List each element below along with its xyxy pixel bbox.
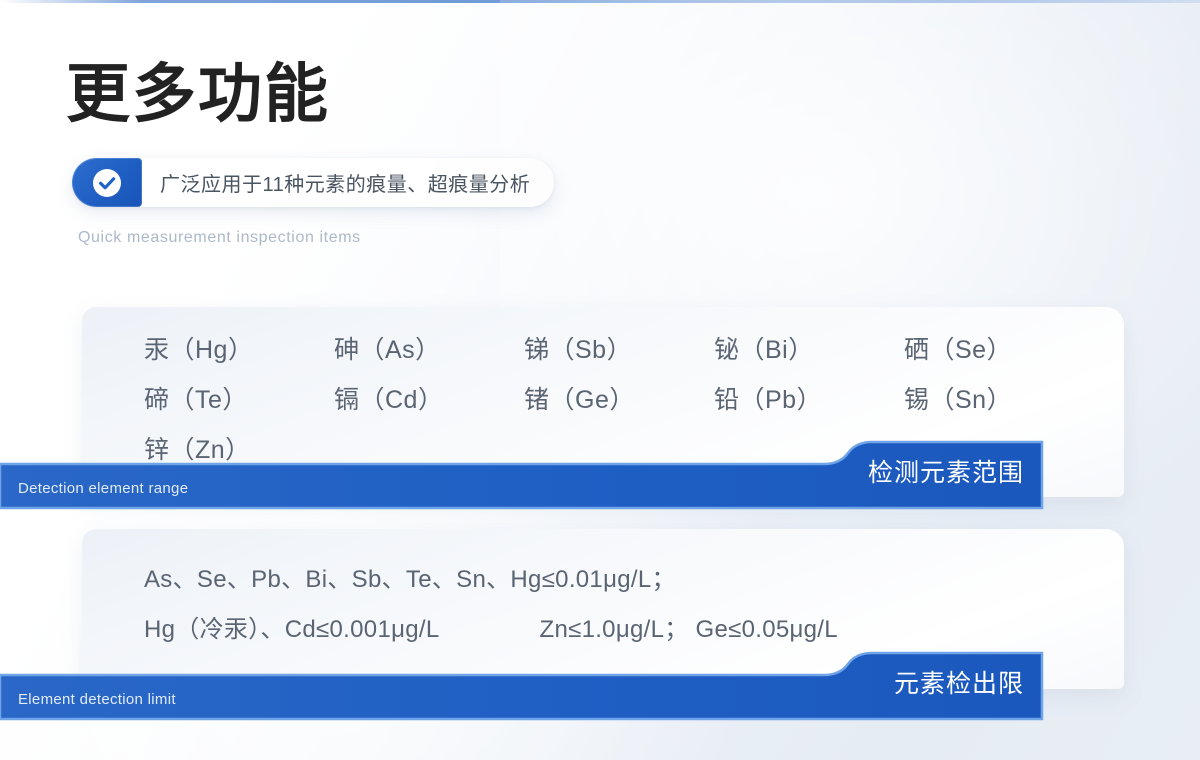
element-cell: 铋（Bi） (714, 330, 904, 366)
element-cell: 锗（Ge） (524, 380, 714, 416)
highlight-pill-label: 广泛应用于11种元素的痕量、超痕量分析 (142, 158, 554, 207)
element-detection-limit-card: As、Se、Pb、Bi、Sb、Te、Sn、Hg≤0.01μg/L； Hg（冷汞）… (82, 529, 1124, 689)
element-row: 汞（Hg） 砷（As） 锑（Sb） 铋（Bi） 硒（Se） (144, 323, 1124, 373)
element-cell: 锡（Sn） (904, 380, 1094, 416)
element-row: 锌（Zn） (144, 423, 1124, 473)
element-cell: 硒（Se） (904, 330, 1094, 366)
limit-line: Hg（冷汞）、Cd≤0.001μg/L Zn≤1.0μg/L； Ge≤0.05μ… (144, 601, 1124, 651)
banner-en-label: Element detection limit (18, 691, 176, 708)
element-cell: 砷（As） (334, 330, 524, 366)
page-root: 更多功能 广泛应用于11种元素的痕量、超痕量分析 Quick measureme… (0, 0, 1200, 760)
limit-line-segment: Hg（冷汞）、Cd≤0.001μg/L (144, 609, 439, 644)
detection-element-range-card: 汞（Hg） 砷（As） 锑（Sb） 铋（Bi） 硒（Se） 碲（Te） 镉（Cd… (82, 307, 1124, 497)
element-row: 碲（Te） 镉（Cd） 锗（Ge） 铅（Pb） 锡（Sn） (144, 373, 1124, 423)
element-cell: 镉（Cd） (334, 380, 524, 416)
limit-lines: As、Se、Pb、Bi、Sb、Te、Sn、Hg≤0.01μg/L； Hg（冷汞）… (82, 529, 1124, 651)
limit-line: As、Se、Pb、Bi、Sb、Te、Sn、Hg≤0.01μg/L； (144, 551, 1124, 601)
top-accent-rule (0, 0, 1200, 3)
limit-lines-body: As、Se、Pb、Bi、Sb、Te、Sn、Hg≤0.01μg/L； Hg（冷汞）… (82, 529, 1124, 651)
element-cell: 汞（Hg） (144, 330, 334, 366)
element-cell: 铅（Pb） (714, 380, 904, 416)
limit-line-segment: Zn≤1.0μg/L； Ge≤0.05μg/L (539, 609, 837, 644)
element-grid-body: 汞（Hg） 砷（As） 锑（Sb） 铋（Bi） 硒（Se） 碲（Te） 镉（Cd… (82, 307, 1124, 473)
check-circle-icon (72, 158, 142, 207)
page-title: 更多功能 (66, 56, 330, 134)
element-cell: 碲（Te） (144, 380, 334, 416)
element-grid: 汞（Hg） 砷（As） 锑（Sb） 铋（Bi） 硒（Se） 碲（Te） 镉（Cd… (82, 307, 1124, 473)
limit-line-segment: As、Se、Pb、Bi、Sb、Te、Sn、Hg≤0.01μg/L； (144, 559, 676, 594)
element-cell: 锌（Zn） (144, 430, 334, 466)
highlight-pill: 广泛应用于11种元素的痕量、超痕量分析 (72, 158, 554, 207)
page-subtitle: Quick measurement inspection items (78, 229, 361, 247)
element-cell: 锑（Sb） (524, 330, 714, 366)
